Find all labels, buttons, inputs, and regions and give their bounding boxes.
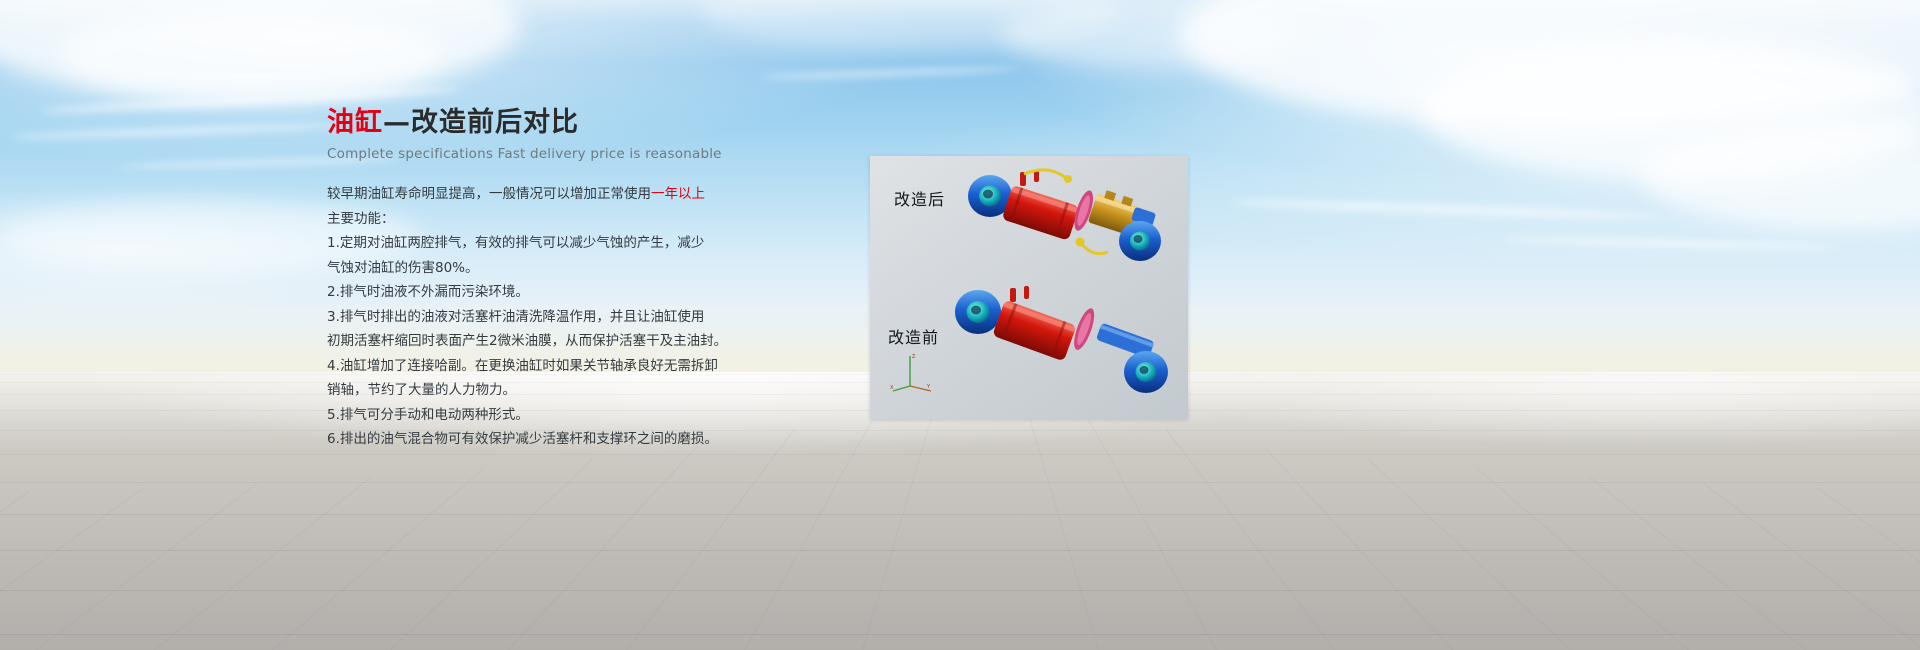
feature-line-text: 主要功能： [327, 211, 395, 227]
label-after-modification: 改造后 [894, 186, 945, 210]
ground-horizontal-line [0, 482, 1920, 483]
feature-line-text: 4.油缸增加了连接哈副。在更换油缸时如果关节轴承良好无需拆卸 [327, 358, 718, 374]
feature-line: 5.排气可分手动和电动两种形式。 [327, 403, 847, 428]
feature-line: 6.排出的油气混合物可有效保护减少活塞杆和支撑环之间的磨损。 [327, 427, 847, 452]
cylinder-after-illustration [962, 166, 1172, 276]
cloud-shape [60, 10, 440, 100]
hero-banner: 油缸—改造前后对比 Complete specifications Fast d… [0, 0, 1920, 650]
feature-line: 3.排气时排出的油液对活塞杆油清洗降温作用，并且让油缸使用 [327, 305, 847, 330]
feature-line-text: 5.排气可分手动和电动两种形式。 [327, 407, 529, 423]
page-subtitle: Complete specifications Fast delivery pr… [327, 145, 847, 163]
svg-text:X: X [890, 385, 894, 391]
ground-horizontal-line [0, 430, 1920, 431]
cylinder-comparison-image: 改造后 改造前 Z X Y [870, 156, 1188, 419]
feature-line-text: 气蚀对油缸的伤害80%。 [327, 260, 479, 276]
feature-line: 1.定期对油缸两腔排气，有效的排气可以减少气蚀的产生，减少 [327, 231, 847, 256]
title-rest: —改造前后对比 [383, 107, 579, 138]
cylinder-before-illustration [948, 284, 1178, 404]
feature-line: 气蚀对油缸的伤害80%。 [327, 256, 847, 281]
banner-text-block: 油缸—改造前后对比 Complete specifications Fast d… [327, 106, 847, 452]
feature-line: 较早期油缸寿命明显提高，一般情况可以增加正常使用一年以上 [327, 182, 847, 207]
ground-horizontal-line [0, 590, 1920, 591]
feature-line-text: 1.定期对油缸两腔排气，有效的排气可以减少气蚀的产生，减少 [327, 235, 704, 251]
feature-line: 4.油缸增加了连接哈副。在更换油缸时如果关节轴承良好无需拆卸 [327, 354, 847, 379]
feature-line-text: 销轴，节约了大量的人力物力。 [327, 382, 516, 398]
feature-description: 较早期油缸寿命明显提高，一般情况可以增加正常使用一年以上主要功能：1.定期对油缸… [327, 182, 847, 452]
feature-line: 2.排气时油液不外漏而污染环境。 [327, 280, 847, 305]
feature-line: 销轴，节约了大量的人力物力。 [327, 378, 847, 403]
ground-horizontal-line [0, 454, 1920, 455]
ground-horizontal-line [0, 550, 1920, 551]
feature-line-text: 初期活塞杆缩回时表面产生2微米油膜，从而保护活塞干及主油封。 [327, 333, 727, 349]
svg-text:Y: Y [926, 384, 931, 390]
feature-line-text: 较早期油缸寿命明显提高，一般情况可以增加正常使用 [327, 186, 651, 202]
ground-horizontal-line [0, 514, 1920, 515]
feature-line-text: 2.排气时油液不外漏而污染环境。 [327, 284, 529, 300]
feature-line-text: 3.排气时排出的油液对活塞杆油清洗降温作用，并且让油缸使用 [327, 309, 704, 325]
svg-text:Z: Z [912, 354, 916, 360]
feature-line: 主要功能： [327, 207, 847, 232]
feature-line-highlight: 一年以上 [651, 186, 705, 202]
axis-triad-icon: Z X Y [890, 352, 934, 392]
feature-line-text: 6.排出的油气混合物可有效保护减少活塞杆和支撑环之间的磨损。 [327, 431, 718, 447]
page-title: 油缸—改造前后对比 [327, 106, 847, 140]
label-before-modification: 改造前 [888, 324, 939, 348]
feature-line: 初期活塞杆缩回时表面产生2微米油膜，从而保护活塞干及主油封。 [327, 329, 847, 354]
title-highlight: 油缸 [327, 107, 383, 138]
